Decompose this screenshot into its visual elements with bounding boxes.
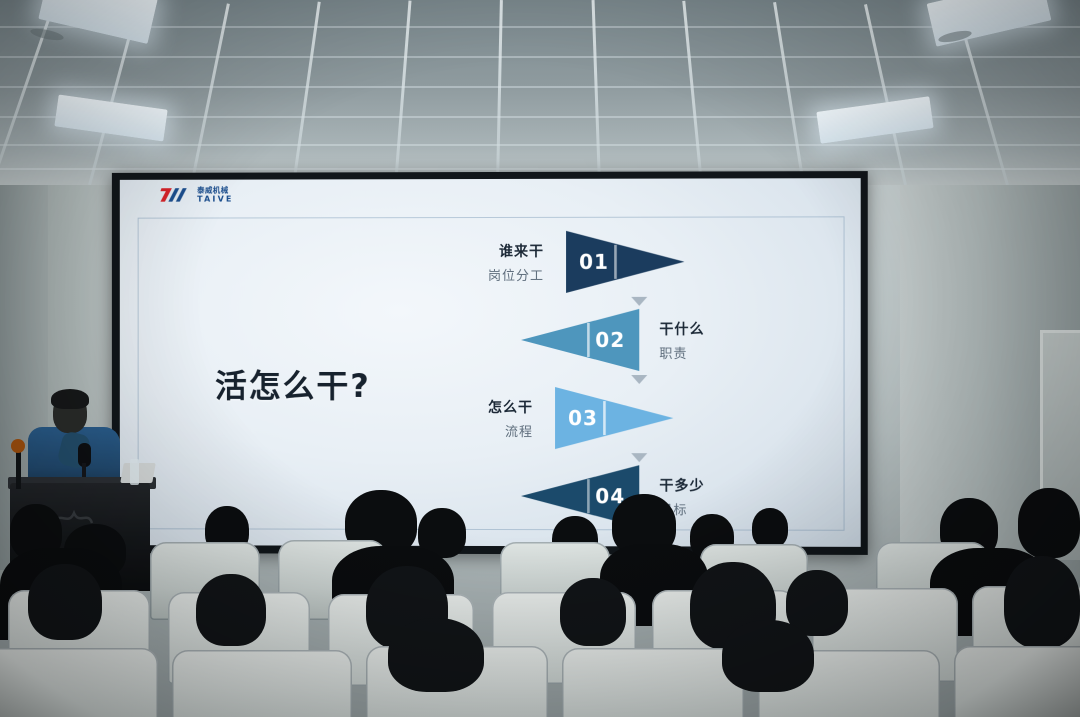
logo-english-text: TAIVE <box>197 195 233 203</box>
process-step-02: 02 干什么 职责 <box>521 309 705 371</box>
step-subtext: 岗位分工 <box>488 264 544 283</box>
audience-head <box>722 620 814 692</box>
audience-head <box>752 508 788 548</box>
slide-title: 活怎么干? <box>215 361 371 407</box>
step-heading: 干什么 <box>659 318 704 338</box>
step-arrow-02: 02 <box>521 309 639 371</box>
connector-arrow-1-2 <box>631 297 647 306</box>
step-heading: 怎么干 <box>488 397 533 417</box>
audience-head <box>1018 488 1080 558</box>
audience-head <box>28 564 102 640</box>
step-number: 01 <box>579 250 609 274</box>
step-number: 02 <box>595 328 625 352</box>
step-arrow-03: 03 <box>555 387 673 449</box>
audience-seat <box>562 648 744 717</box>
step-subtext: 流程 <box>505 421 533 440</box>
podium-mic-head-icon <box>11 439 25 453</box>
process-step-03: 怎么干 流程 03 <box>488 387 673 449</box>
taive-logo-icon <box>159 187 192 204</box>
step-heading: 谁来干 <box>499 240 544 260</box>
step-number: 03 <box>568 406 598 430</box>
connector-arrow-2-3 <box>631 375 647 384</box>
audience-head <box>196 574 266 646</box>
audience-seating <box>0 470 1080 717</box>
connector-arrow-3-4 <box>631 453 647 462</box>
suspended-ceiling <box>0 0 1080 185</box>
step-arrow-01: 01 <box>566 231 684 293</box>
presenter-hair <box>51 389 89 409</box>
audience-head <box>1004 556 1080 648</box>
ceiling-light <box>54 95 167 142</box>
ceiling-light <box>816 96 933 144</box>
process-step-01: 谁来干 岗位分工 01 <box>488 231 684 293</box>
audience-seat <box>0 648 158 717</box>
logo-chinese-text: 泰威机械 <box>197 187 233 195</box>
audience-seat <box>172 650 352 717</box>
scene-photo: 泰威机械 TAIVE 活怎么干? 谁来干 岗位分工 <box>0 0 1080 717</box>
step-subtext: 职责 <box>659 342 687 361</box>
audience-head <box>560 578 626 646</box>
audience-head <box>388 618 484 692</box>
audience-seat <box>954 646 1080 717</box>
company-logo: 泰威机械 TAIVE <box>159 187 233 204</box>
